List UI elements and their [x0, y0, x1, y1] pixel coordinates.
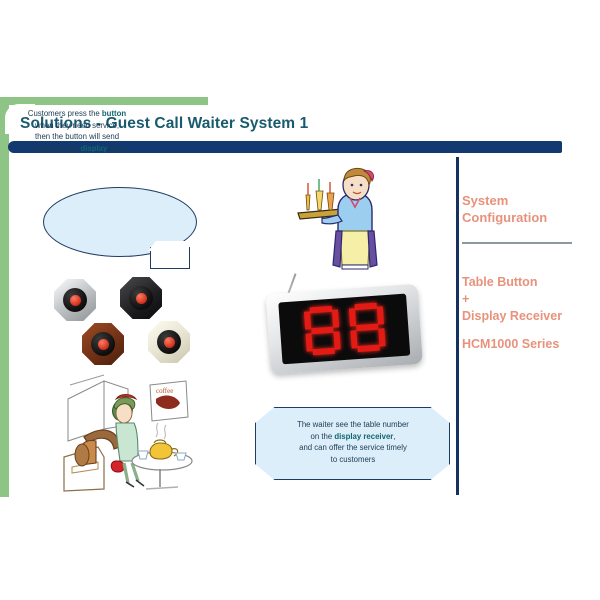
display-receiver-device — [265, 276, 423, 374]
bubble2-line3: and can offer the service timely — [299, 443, 407, 452]
panel-item-display-receiver: Display Receiver — [462, 308, 594, 325]
wood-call-button[interactable] — [82, 323, 124, 365]
button-red-dot — [98, 339, 109, 350]
panel-heading: System Configuration — [462, 192, 594, 226]
bubble1-line4-bold: display — [80, 144, 107, 153]
button-red-dot — [164, 337, 175, 348]
panel-component-list: Table Button + Display Receiver — [462, 274, 594, 325]
bubble2-line2-post: , — [393, 432, 395, 441]
bubble2-line4: to customers — [331, 455, 376, 464]
panel-heading-line2: Configuration — [462, 209, 594, 226]
bubble1-line1-bold: button — [102, 109, 126, 118]
waiter-bubble-text: The waiter see the table number on the d… — [258, 419, 448, 465]
bubble1-line2: when they need service, — [35, 121, 119, 130]
call-button-group — [52, 277, 202, 367]
receiver-housing — [266, 284, 423, 374]
panel-item-table-button: Table Button — [462, 274, 594, 291]
svg-text:coffee: coffee — [156, 387, 173, 395]
receiver-led-screen — [278, 294, 410, 365]
system-configuration-panel: System Configuration Table Button + Disp… — [462, 192, 594, 351]
button-ring — [157, 330, 181, 354]
panel-item-plus: + — [462, 291, 594, 308]
bubble2-line2-bold: display receiver — [334, 432, 393, 441]
bubble1-line4-post: host — [107, 144, 124, 153]
cafe-scene-illustration: coffee — [58, 369, 198, 495]
button-red-dot — [70, 295, 81, 306]
black-call-button[interactable] — [120, 277, 162, 319]
button-red-dot — [136, 293, 147, 304]
button-ring — [91, 332, 115, 356]
bubble1-line4-pre: a signal to the — [30, 144, 81, 153]
presentation-slide: Solutions - Guest Call Waiter System 1 C… — [0, 0, 600, 600]
button-ring — [63, 288, 87, 312]
waitress-illustration — [292, 165, 388, 273]
panel-divider-rule — [462, 242, 572, 244]
vertical-section-divider — [456, 157, 459, 495]
panel-series-label: HCM1000 Series — [462, 337, 594, 351]
silver-call-button[interactable] — [54, 279, 96, 321]
left-green-accent-strip — [0, 97, 9, 497]
bubble2-line1: The waiter see the table number — [297, 420, 409, 429]
receiver-digit-tens — [303, 305, 340, 355]
bubble1-line1-pre: Customers press the — [28, 109, 102, 118]
ivory-call-button[interactable] — [148, 321, 190, 363]
bubble1-line3: then the button will send — [35, 132, 119, 141]
bubble2-line2-pre: on the — [311, 432, 335, 441]
receiver-digit-ones — [348, 302, 385, 352]
button-ring — [129, 286, 153, 310]
slide-content-area: Solutions - Guest Call Waiter System 1 C… — [0, 97, 600, 497]
panel-heading-line1: System — [462, 192, 594, 209]
customer-bubble-text: Customers press the button when they nee… — [6, 108, 148, 154]
